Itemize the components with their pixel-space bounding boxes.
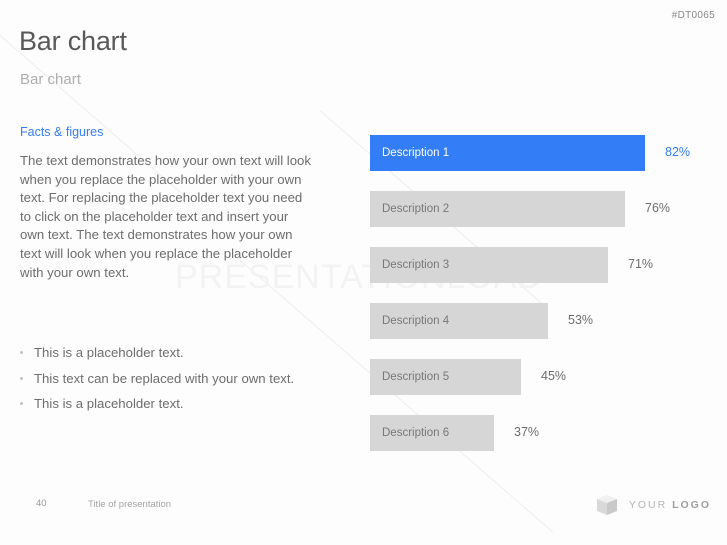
logo: YOUR LOGO bbox=[594, 492, 711, 518]
body-paragraph: The text demonstrates how your own text … bbox=[20, 152, 312, 282]
facts-and-figures-heading: Facts & figures bbox=[20, 125, 103, 139]
page-subtitle: Bar chart bbox=[20, 71, 81, 88]
bar-value-4: 45% bbox=[541, 369, 566, 383]
list-item-label: This is a placeholder text. bbox=[34, 345, 184, 360]
bar-value-1: 76% bbox=[645, 201, 670, 215]
bar-value-0: 82% bbox=[665, 145, 690, 159]
logo-text: YOUR LOGO bbox=[629, 499, 711, 511]
page-number: 40 bbox=[36, 498, 47, 509]
bar-row: Description 1 82% bbox=[370, 135, 710, 171]
bar-segment-1[interactable]: Description 2 bbox=[370, 191, 625, 227]
bar-label: Description 5 bbox=[370, 371, 449, 383]
bar-value-5: 37% bbox=[514, 425, 539, 439]
bar-row: Description 4 53% bbox=[370, 303, 710, 339]
bullet-list: This is a placeholder text. This text ca… bbox=[20, 344, 320, 421]
bar-row: Description 3 71% bbox=[370, 247, 710, 283]
bar-segment-4[interactable]: Description 5 bbox=[370, 359, 521, 395]
bar-label: Description 2 bbox=[370, 203, 449, 215]
list-item-label: This text can be replaced with your own … bbox=[34, 371, 294, 386]
slide-canvas: PRESENTATIONLOAD #DT0065 Bar chart Bar c… bbox=[0, 0, 727, 545]
cube-icon bbox=[594, 492, 620, 518]
bullet-dot-icon bbox=[20, 402, 23, 405]
bar-row: Description 2 76% bbox=[370, 191, 710, 227]
bar-value-2: 71% bbox=[628, 257, 653, 271]
bar-label: Description 6 bbox=[370, 427, 449, 439]
bar-segment-5[interactable]: Description 6 bbox=[370, 415, 494, 451]
bar-segment-3[interactable]: Description 4 bbox=[370, 303, 548, 339]
logo-text-bold: LOGO bbox=[672, 499, 711, 511]
bullet-dot-icon bbox=[20, 377, 23, 380]
list-item-label: This is a placeholder text. bbox=[34, 396, 184, 411]
bar-row: Description 6 37% bbox=[370, 415, 710, 451]
bar-label: Description 3 bbox=[370, 259, 449, 271]
list-item: This is a placeholder text. bbox=[20, 395, 320, 414]
document-code: #DT0065 bbox=[672, 10, 715, 21]
bar-label: Description 1 bbox=[370, 147, 449, 159]
page-title: Bar chart bbox=[19, 26, 127, 57]
bullet-dot-icon bbox=[20, 351, 23, 354]
bar-segment-2[interactable]: Description 3 bbox=[370, 247, 608, 283]
bar-segment-0[interactable]: Description 1 bbox=[370, 135, 645, 171]
bar-row: Description 5 45% bbox=[370, 359, 710, 395]
bar-chart: Description 1 82% Description 2 76% Desc… bbox=[370, 135, 710, 455]
list-item: This is a placeholder text. bbox=[20, 344, 320, 363]
bar-label: Description 4 bbox=[370, 315, 449, 327]
logo-text-light: YOUR bbox=[629, 499, 672, 511]
list-item: This text can be replaced with your own … bbox=[20, 370, 320, 389]
bar-value-3: 53% bbox=[568, 313, 593, 327]
footer-presentation-title: Title of presentation bbox=[88, 499, 171, 510]
